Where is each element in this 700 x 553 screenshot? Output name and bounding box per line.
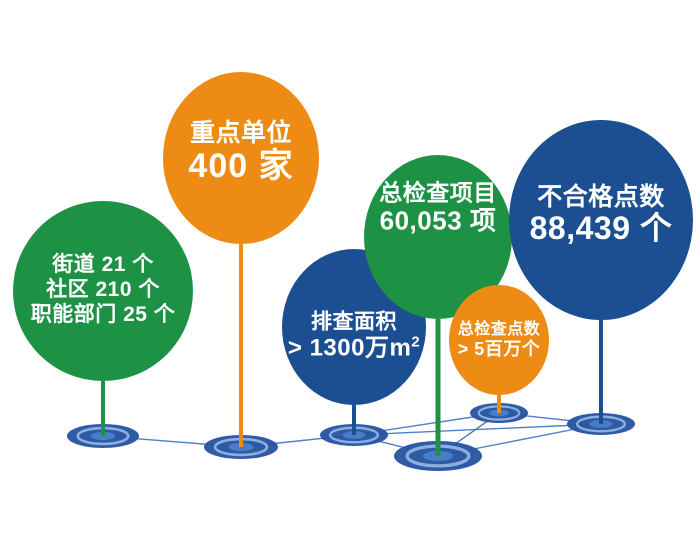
infographic-canvas: 街道 21 个社区 210 个职能部门 25 个重点单位400 家排查面积> 1…	[0, 0, 700, 553]
bubble-streets[interactable]	[13, 201, 193, 381]
bubble-key-units[interactable]	[163, 72, 319, 244]
bubble-total-points[interactable]	[449, 285, 549, 395]
ground-markers	[67, 403, 635, 471]
balloon-graphics-layer	[0, 0, 700, 553]
bubble-failed-points[interactable]	[509, 120, 693, 320]
balloon-bubbles	[13, 72, 693, 405]
